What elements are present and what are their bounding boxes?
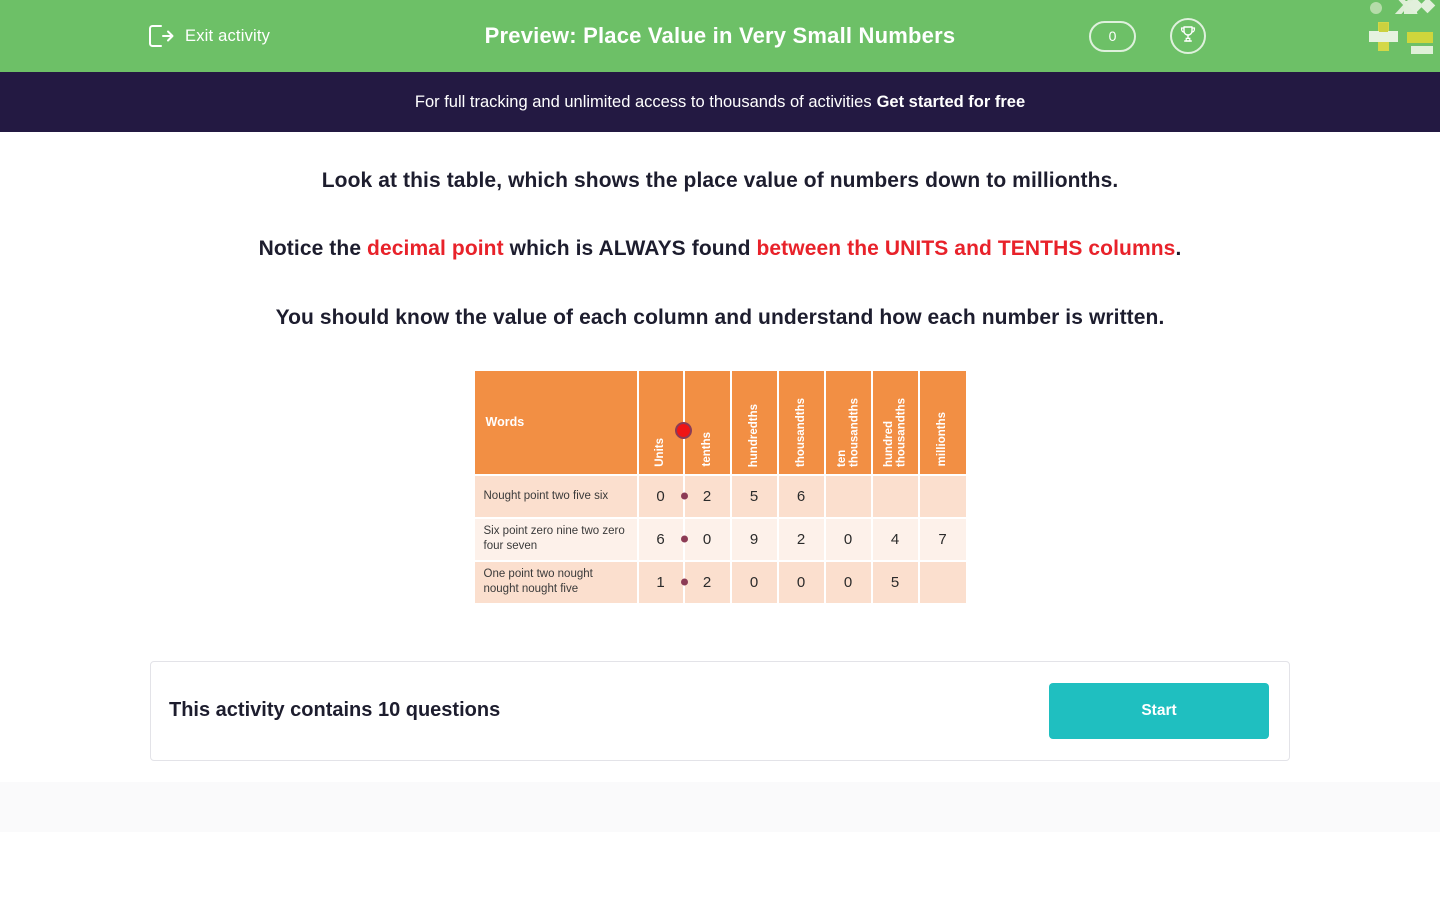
cell-ten-thousandths: 0 bbox=[826, 519, 873, 562]
column-header-hundredths-label: hundredths bbox=[748, 404, 760, 467]
activity-card-wrap: This activity contains 10 questions Star… bbox=[0, 661, 1440, 761]
column-header-units-label: Units bbox=[654, 438, 666, 467]
decimal-point-icon bbox=[681, 536, 688, 543]
column-header-millionths: millionths bbox=[920, 371, 966, 476]
column-header-ten-thousandths-label: ten thousandths bbox=[836, 398, 861, 467]
start-button[interactable]: Start bbox=[1049, 683, 1269, 739]
trophy-button[interactable] bbox=[1170, 18, 1206, 54]
score-value: 0 bbox=[1109, 28, 1117, 44]
cell-tenths: 0 bbox=[685, 519, 732, 562]
instruction-line-2-part-a: Notice the bbox=[259, 237, 367, 260]
table-row: One point two nought nought nought five … bbox=[475, 562, 966, 605]
cell-units: 6 bbox=[639, 519, 685, 562]
cell-tenths: 2 bbox=[685, 476, 732, 519]
cell-thousandths: 0 bbox=[779, 562, 826, 605]
cell-thousandths: 2 bbox=[779, 519, 826, 562]
promo-banner[interactable]: For full tracking and unlimited access t… bbox=[0, 72, 1440, 132]
decimal-point-icon bbox=[681, 493, 688, 500]
place-value-table: Words Units tenths hundredths thousandth… bbox=[475, 371, 966, 605]
units-tenths-highlight: between the UNITS and TENTHS columns bbox=[756, 237, 1175, 260]
column-header-thousandths-label: thousandths bbox=[795, 398, 807, 467]
decimal-point-marker-icon bbox=[675, 422, 692, 439]
cell-hundredths: 0 bbox=[732, 562, 779, 605]
instruction-block: Look at this table, which shows the plac… bbox=[0, 168, 1440, 331]
promo-cta-link[interactable]: Get started for free bbox=[877, 93, 1026, 112]
trophy-icon bbox=[1178, 24, 1198, 49]
cell-ten-thousandths: 0 bbox=[826, 562, 873, 605]
cell-hundred-thousandths: 4 bbox=[873, 519, 920, 562]
cell-millionths bbox=[920, 562, 966, 605]
promo-text: For full tracking and unlimited access t… bbox=[415, 93, 872, 112]
decorative-shapes bbox=[1360, 0, 1440, 60]
row-words: Six point zero nine two zero four seven bbox=[475, 519, 639, 562]
instruction-line-3: You should know the value of each column… bbox=[0, 305, 1440, 331]
cell-tenths-value: 0 bbox=[703, 531, 711, 548]
column-header-tenths: tenths bbox=[685, 371, 732, 476]
cell-millionths bbox=[920, 476, 966, 519]
cell-hundred-thousandths bbox=[873, 476, 920, 519]
table-row: Nought point two five six 0 2 5 6 bbox=[475, 476, 966, 519]
cell-hundredths: 5 bbox=[732, 476, 779, 519]
column-header-words: Words bbox=[475, 371, 639, 476]
cell-tenths-value: 2 bbox=[703, 488, 711, 505]
column-header-hundredths: hundredths bbox=[732, 371, 779, 476]
cell-millionths: 7 bbox=[920, 519, 966, 562]
column-header-hundred-thousandths-label: hundred thousandths bbox=[883, 398, 908, 467]
cell-thousandths: 6 bbox=[779, 476, 826, 519]
decimal-point-icon bbox=[681, 579, 688, 586]
instruction-line-2-part-c: which is ALWAYS found bbox=[504, 237, 757, 260]
page-title: Preview: Place Value in Very Small Numbe… bbox=[0, 23, 1440, 49]
cell-tenths-value: 2 bbox=[703, 574, 711, 591]
app-header: Exit activity Preview: Place Value in Ve… bbox=[0, 0, 1440, 72]
cell-hundred-thousandths: 5 bbox=[873, 562, 920, 605]
cell-ten-thousandths bbox=[826, 476, 873, 519]
cell-units: 0 bbox=[639, 476, 685, 519]
column-header-ten-thousandths: ten thousandths bbox=[826, 371, 873, 476]
main-content: Look at this table, which shows the plac… bbox=[0, 132, 1440, 832]
score-badge[interactable]: 0 bbox=[1089, 21, 1136, 52]
column-header-hundred-thousandths: hundred thousandths bbox=[873, 371, 920, 476]
column-header-thousandths: thousandths bbox=[779, 371, 826, 476]
instruction-line-1: Look at this table, which shows the plac… bbox=[0, 168, 1440, 194]
table-row: Six point zero nine two zero four seven … bbox=[475, 519, 966, 562]
place-value-table-wrap: Words Units tenths hundredths thousandth… bbox=[0, 371, 1440, 605]
cell-units: 1 bbox=[639, 562, 685, 605]
cell-tenths: 2 bbox=[685, 562, 732, 605]
table-header-row: Words Units tenths hundredths thousandth… bbox=[475, 371, 966, 476]
column-header-tenths-label: tenths bbox=[701, 432, 713, 467]
activity-card: This activity contains 10 questions Star… bbox=[150, 661, 1290, 761]
footer-band bbox=[0, 782, 1440, 832]
row-words: One point two nought nought nought five bbox=[475, 562, 639, 605]
activity-question-count: This activity contains 10 questions bbox=[169, 699, 500, 722]
instruction-line-2-part-e: . bbox=[1175, 237, 1181, 260]
instruction-line-2: Notice the decimal point which is ALWAYS… bbox=[0, 236, 1440, 262]
decimal-point-highlight: decimal point bbox=[367, 237, 504, 260]
cell-hundredths: 9 bbox=[732, 519, 779, 562]
row-words: Nought point two five six bbox=[475, 476, 639, 519]
column-header-millionths-label: millionths bbox=[936, 412, 948, 466]
